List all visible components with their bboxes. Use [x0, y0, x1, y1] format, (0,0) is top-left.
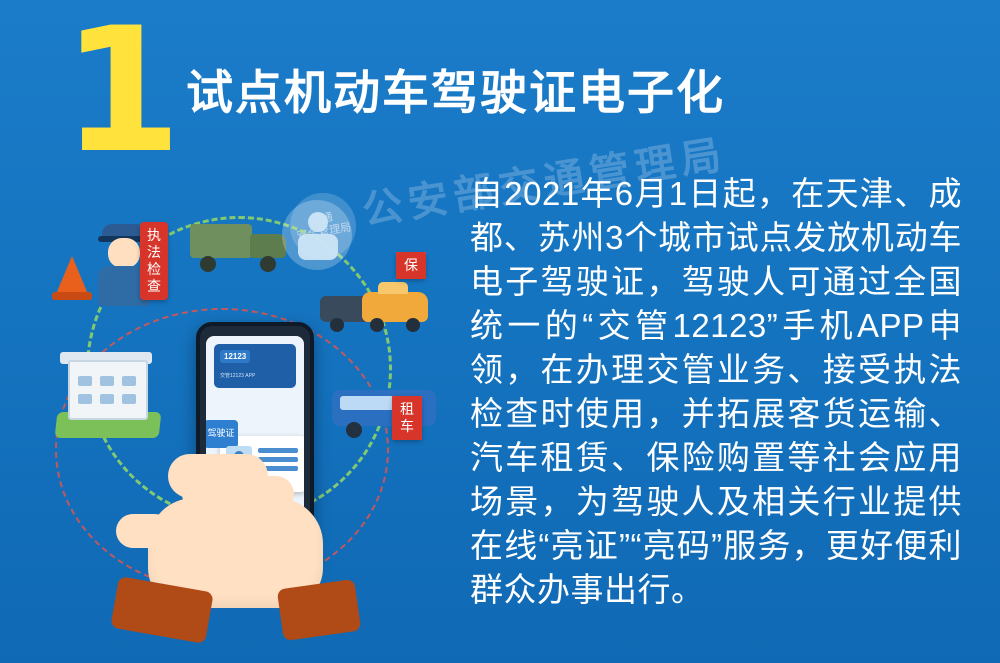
poster-canvas: 1 试点机动车驾驶证电子化 公安部交通管理局 交通安全管理局 自2021年6月1… — [0, 0, 1000, 663]
body-paragraph: 自2021年6月1日起，在天津、成都、苏州3个城市试点发放机动车电子驾驶证，驾驶… — [470, 172, 962, 612]
app-subtitle: 交管12123 APP — [220, 372, 255, 379]
cargo-truck-icon — [190, 216, 294, 276]
taxi-icon — [320, 282, 430, 336]
app-logo: 12123 — [220, 350, 250, 363]
officer-badge-icon — [282, 200, 352, 276]
page-title: 试点机动车驾驶证电子化 — [186, 54, 725, 123]
insurance-label: 保 — [396, 252, 426, 279]
right-sleeve-cuff — [277, 579, 361, 641]
government-building-icon — [56, 350, 160, 442]
car-rental-label: 租车 — [392, 396, 422, 440]
bus-icon — [332, 386, 442, 442]
car-rental-label-text: 租车 — [392, 396, 422, 440]
app-header-card: 12123 交管12123 APP — [214, 344, 296, 388]
section-number: 1 — [62, 16, 178, 166]
illustration: 执法检查 保 — [0, 190, 470, 663]
traffic-cone-icon — [52, 252, 92, 300]
enforcement-check-label-text: 执法检查 — [140, 222, 168, 300]
hands-holding-phone — [108, 458, 358, 658]
enforcement-check-label: 执法检查 — [140, 222, 168, 300]
license-card-tag: 驾驶证 — [206, 420, 238, 448]
insurance-label-text: 保 — [396, 252, 426, 279]
